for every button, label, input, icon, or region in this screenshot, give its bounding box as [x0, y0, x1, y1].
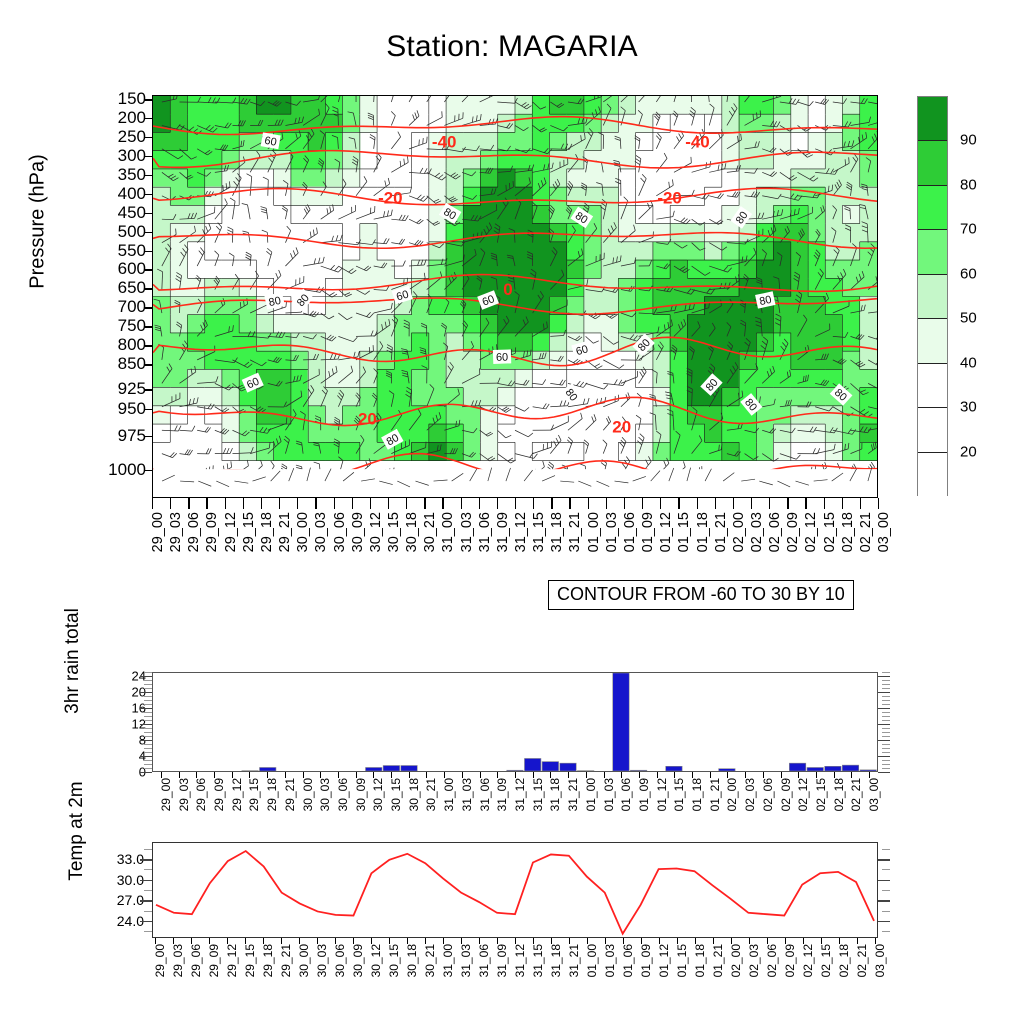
pressure-tick: [145, 194, 152, 196]
rain-y-minor-tick: [144, 728, 152, 729]
time-label: 29_03: [168, 512, 184, 552]
temp-y-tick: [878, 880, 890, 881]
time-label: 29_00: [150, 512, 166, 552]
time-tick: [315, 498, 316, 509]
time-label: 02_06: [767, 512, 783, 552]
temp-x-label: 30_06: [333, 944, 347, 977]
temp-y-tick: [878, 859, 890, 860]
temp-y-minor-tick: [882, 869, 890, 870]
temp-y-minor-tick: [144, 869, 152, 870]
time-label: 02_15: [822, 512, 838, 552]
time-label: 30_00: [295, 512, 311, 552]
rain-y-tick: [878, 708, 890, 709]
temp-panel-title: Temp at 2m: [66, 716, 88, 946]
temp-y-minor-tick: [144, 911, 152, 912]
rain-y-minor-tick: [882, 764, 890, 765]
time-label: 01_00: [586, 512, 602, 552]
rain-x-label: 02_21: [849, 778, 863, 811]
rain-y-minor-tick: [144, 672, 152, 673]
pressure-tick: [145, 389, 152, 391]
pressure-label: 850: [118, 354, 146, 374]
time-tick: [569, 498, 570, 509]
rain-x-label: 31_00: [442, 778, 456, 811]
time-tick: [697, 498, 698, 509]
time-tick: [279, 498, 280, 509]
pressure-label: 650: [118, 278, 146, 298]
colorbar-swatch[interactable]: [918, 275, 947, 319]
rain-x-label: 01_18: [690, 778, 704, 811]
rain-x-label: 03_00: [867, 778, 881, 811]
time-label: 29_18: [259, 512, 275, 552]
time-label: 02_12: [803, 512, 819, 552]
time-label: 02_09: [785, 512, 801, 552]
rain-y-minor-tick: [144, 704, 152, 705]
colorbar-label: 80: [960, 176, 977, 193]
rain-y-tick: [878, 692, 890, 693]
time-tick: [297, 498, 298, 509]
colorbar-label: 40: [960, 354, 977, 371]
time-label: 29_21: [277, 512, 293, 552]
temp-x-label: 01_21: [711, 944, 725, 977]
pressure-label: 200: [118, 108, 146, 128]
rain-y-tick: [140, 772, 152, 773]
rain-x-label: 02_18: [832, 778, 846, 811]
temp-x-label: 31_00: [441, 944, 455, 977]
rain-y-tick: [140, 708, 152, 709]
colorbar-swatch[interactable]: [918, 364, 947, 408]
time-tick: [660, 498, 661, 509]
temp-x-label: 02_12: [801, 944, 815, 977]
time-label: 02_00: [731, 512, 747, 552]
time-tick: [751, 498, 752, 509]
pressure-tick: [145, 326, 152, 328]
pressure-label: 1000: [108, 460, 146, 480]
pressure-label: 500: [118, 222, 146, 242]
rain-y-minor-tick: [882, 768, 890, 769]
rain-y-minor-tick: [144, 688, 152, 689]
temp-x-label: 30_00: [297, 944, 311, 977]
rain-x-label: 02_15: [814, 778, 828, 811]
pressure-label: 400: [118, 184, 146, 204]
rain-y-minor-tick: [882, 744, 890, 745]
temp-y-axis-ticks-right: [878, 842, 891, 938]
rain-y-minor-tick: [144, 768, 152, 769]
rain-y-minor-tick: [144, 720, 152, 721]
pressure-tick: [145, 213, 152, 215]
rain-x-label: 29_09: [212, 778, 226, 811]
temp-y-tick: [878, 921, 890, 922]
temp-x-label: 29_09: [207, 944, 221, 977]
rain-x-label: 29_03: [177, 778, 191, 811]
time-tick: [497, 498, 498, 509]
time-tick: [243, 498, 244, 509]
time-tick: [624, 498, 625, 509]
pressure-label: 800: [118, 335, 146, 355]
pressure-label: 550: [118, 241, 146, 261]
pressure-tick: [145, 470, 152, 472]
rain-y-minor-tick: [144, 752, 152, 753]
rain-y-minor-tick: [144, 716, 152, 717]
rain-y-tick: [140, 692, 152, 693]
time-tick: [642, 498, 643, 509]
svg-text:60: 60: [263, 135, 277, 149]
colorbar-swatch[interactable]: [918, 230, 947, 274]
time-label: 01_09: [640, 512, 656, 552]
rain-x-axis-labels: 29_0029_0329_0629_0929_1229_1529_1829_21…: [152, 778, 878, 834]
rain-y-minor-tick: [882, 704, 890, 705]
temp-x-label: 30_09: [351, 944, 365, 977]
time-tick: [206, 498, 207, 509]
pressure-label: 450: [118, 203, 146, 223]
temp-x-label: 02_06: [765, 944, 779, 977]
temp-y-tick: [140, 921, 152, 922]
pressure-tick: [145, 269, 152, 271]
time-label: 30_12: [368, 512, 384, 552]
rain-y-minor-tick: [882, 720, 890, 721]
pressure-label: 300: [118, 146, 146, 166]
time-label: 30_15: [386, 512, 402, 552]
rain-x-label: 01_21: [708, 778, 722, 811]
temp-y-tick: [140, 880, 152, 881]
rain-y-minor-tick: [882, 672, 890, 673]
cross-section-plot[interactable]: -40-40-20-200202060608080806080806080808…: [152, 95, 878, 498]
pressure-tick: [145, 345, 152, 347]
temp-y-minor-tick: [882, 890, 890, 891]
rain-y-tick: [878, 756, 890, 757]
colorbar-label: 70: [960, 221, 977, 238]
temp-x-label: 31_21: [567, 944, 581, 977]
temp-x-label: 29_06: [189, 944, 203, 977]
temp-y-tick: [878, 900, 890, 901]
rain-y-tick: [878, 740, 890, 741]
rain-x-label: 01_03: [602, 778, 616, 811]
rain-x-label: 29_21: [283, 778, 297, 811]
time-tick: [461, 498, 462, 509]
time-label: 30_03: [313, 512, 329, 552]
temp-x-label: 01_03: [603, 944, 617, 977]
rain-x-label: 02_12: [796, 778, 810, 811]
rain-y-minor-tick: [882, 696, 890, 697]
time-label: 01_12: [658, 512, 674, 552]
rain-y-tick: [878, 772, 890, 773]
rain-y-tick: [140, 740, 152, 741]
temp-x-label: 02_18: [837, 944, 851, 977]
pressure-tick: [145, 288, 152, 290]
rain-total-plot[interactable]: [152, 672, 878, 772]
svg-text:-20: -20: [378, 188, 402, 207]
time-tick: [533, 498, 534, 509]
time-label: 02_18: [840, 512, 856, 552]
rain-y-minor-tick: [882, 748, 890, 749]
main-x-axis-labels: 29_0029_0329_0629_0929_1229_1529_1829_21…: [152, 512, 878, 582]
colorbar-swatch[interactable]: [918, 319, 947, 363]
time-tick: [515, 498, 516, 509]
colorbar-label: 50: [960, 310, 977, 327]
rain-x-label: 29_15: [247, 778, 261, 811]
temp-x-label: 01_12: [657, 944, 671, 977]
svg-text:-40: -40: [432, 133, 456, 152]
rain-x-label: 01_12: [655, 778, 669, 811]
temp-x-label: 31_15: [531, 944, 545, 977]
rain-x-label: 30_06: [336, 778, 350, 811]
svg-text:20: 20: [358, 409, 377, 428]
temp-x-label: 29_03: [171, 944, 185, 977]
time-label: 31_03: [459, 512, 475, 552]
temp-x-label: 29_18: [261, 944, 275, 977]
rain-y-minor-tick: [882, 752, 890, 753]
temp-x-label: 31_09: [495, 944, 509, 977]
rain-y-minor-tick: [144, 712, 152, 713]
rain-y-minor-tick: [882, 732, 890, 733]
pressure-tick: [145, 436, 152, 438]
temperature-plot[interactable]: [152, 842, 878, 938]
temp-x-label: 31_18: [549, 944, 563, 977]
rain-y-tick: [140, 676, 152, 677]
time-tick: [334, 498, 335, 509]
rain-x-label: 31_03: [460, 778, 474, 811]
pressure-tick: [145, 307, 152, 309]
rain-x-label: 31_21: [566, 778, 580, 811]
time-label: 03_00: [876, 512, 892, 552]
svg-text:80: 80: [758, 294, 772, 308]
rain-y-minor-tick: [144, 684, 152, 685]
rain-x-label: 30_21: [424, 778, 438, 811]
time-label: 31_00: [440, 512, 456, 552]
svg-text:80: 80: [268, 295, 282, 309]
pressure-label: 700: [118, 297, 146, 317]
rain-y-minor-tick: [882, 680, 890, 681]
time-label: 02_21: [858, 512, 874, 552]
time-tick: [715, 498, 716, 509]
temp-y-axis-labels: 24.027.030.033.0: [86, 842, 144, 938]
colorbar-label: 90: [960, 132, 977, 149]
temp-x-label: 02_09: [783, 944, 797, 977]
rain-y-minor-tick: [882, 760, 890, 761]
page-title: Station: MAGARIA: [0, 30, 1024, 64]
rain-y-minor-tick: [144, 680, 152, 681]
time-label: 30_06: [332, 512, 348, 552]
time-tick: [442, 498, 443, 509]
rain-x-label: 30_00: [301, 778, 315, 811]
rain-x-label: 30_09: [354, 778, 368, 811]
temp-x-label: 02_15: [819, 944, 833, 977]
pressure-tick: [145, 99, 152, 101]
rain-x-label: 01_06: [619, 778, 633, 811]
colorbar-swatch[interactable]: [918, 186, 947, 230]
rain-x-label: 29_06: [194, 778, 208, 811]
pressure-tick: [145, 137, 152, 139]
rain-y-minor-tick: [882, 736, 890, 737]
svg-text:20: 20: [612, 417, 631, 436]
time-label: 31_18: [549, 512, 565, 552]
rain-y-tick: [140, 724, 152, 725]
colorbar-label: 30: [960, 399, 977, 416]
time-tick: [805, 498, 806, 509]
temp-x-label: 29_12: [225, 944, 239, 977]
temp-y-minor-tick: [882, 931, 890, 932]
time-label: 29_06: [186, 512, 202, 552]
temp-x-label: 01_15: [675, 944, 689, 977]
rain-y-tick: [878, 676, 890, 677]
time-tick: [188, 498, 189, 509]
temp-x-axis-labels: 29_0029_0329_0629_0929_1229_1529_1829_21…: [152, 944, 878, 1000]
time-tick: [261, 498, 262, 509]
time-tick: [479, 498, 480, 509]
main-y-axis-labels: 1502002503003504004505005506006507007508…: [60, 95, 146, 498]
rain-y-minor-tick: [144, 748, 152, 749]
colorbar-swatch[interactable]: [918, 97, 947, 141]
rain-x-label: 29_18: [265, 778, 279, 811]
rain-x-label: 01_15: [672, 778, 686, 811]
temp-x-label: 01_00: [585, 944, 599, 977]
rain-y-minor-tick: [882, 688, 890, 689]
rain-y-minor-tick: [882, 700, 890, 701]
rain-y-minor-tick: [144, 732, 152, 733]
rain-x-label: 31_12: [513, 778, 527, 811]
time-tick: [388, 498, 389, 509]
rain-y-minor-tick: [882, 684, 890, 685]
time-label: 31_09: [495, 512, 511, 552]
time-label: 01_21: [713, 512, 729, 552]
rain-x-label: 02_00: [725, 778, 739, 811]
colorbar-swatch[interactable]: [918, 141, 947, 185]
pressure-label: 600: [118, 259, 146, 279]
rain-y-minor-tick: [144, 736, 152, 737]
rain-x-label: 31_06: [478, 778, 492, 811]
colorbar-label: 20: [960, 443, 977, 460]
svg-text:0: 0: [503, 280, 512, 299]
time-label: 29_09: [204, 512, 220, 552]
temp-x-label: 29_21: [279, 944, 293, 977]
pressure-tick: [145, 409, 152, 411]
temp-x-label: 31_06: [477, 944, 491, 977]
svg-text:60: 60: [496, 351, 509, 363]
time-tick: [551, 498, 552, 509]
time-tick: [424, 498, 425, 509]
time-tick: [225, 498, 226, 509]
rain-x-label: 31_15: [531, 778, 545, 811]
time-label: 02_03: [749, 512, 765, 552]
time-tick: [769, 498, 770, 509]
time-label: 31_06: [477, 512, 493, 552]
temp-y-minor-tick: [882, 911, 890, 912]
time-label: 30_18: [404, 512, 420, 552]
rain-x-label: 30_15: [389, 778, 403, 811]
temp-y-tick: [140, 900, 152, 901]
time-tick: [352, 498, 353, 509]
temp-x-label: 29_15: [243, 944, 257, 977]
rain-x-label: 31_18: [548, 778, 562, 811]
temp-x-label: 03_00: [873, 944, 887, 977]
rain-y-minor-tick: [144, 764, 152, 765]
time-tick: [370, 498, 371, 509]
temp-x-label: 01_06: [621, 944, 635, 977]
time-tick: [787, 498, 788, 509]
time-label: 01_03: [604, 512, 620, 552]
temp-x-label: 31_03: [459, 944, 473, 977]
rain-x-label: 01_00: [584, 778, 598, 811]
temp-x-label: 30_18: [405, 944, 419, 977]
rain-y-axis-labels: 04812162024: [96, 672, 146, 772]
weather-sounding-page: Station: MAGARIA Pressure (hPa) 15020025…: [0, 0, 1024, 1024]
temperature-line-canvas: [153, 843, 877, 937]
time-tick: [842, 498, 843, 509]
time-tick: [878, 498, 879, 509]
pressure-tick: [145, 156, 152, 158]
rain-y-minor-tick: [144, 760, 152, 761]
rain-y-tick: [878, 724, 890, 725]
pressure-tick: [145, 175, 152, 177]
rain-x-label: 30_03: [318, 778, 332, 811]
rain-y-tick: [140, 756, 152, 757]
time-tick: [733, 498, 734, 509]
temp-x-label: 30_15: [387, 944, 401, 977]
pressure-label: 975: [118, 426, 146, 446]
rain-y-minor-tick: [144, 700, 152, 701]
pressure-label: 750: [118, 316, 146, 336]
rain-y-minor-tick: [882, 712, 890, 713]
cross-section-canvas: -40-40-20-200202060608080806080806080808…: [153, 96, 877, 497]
rain-x-label: 02_09: [779, 778, 793, 811]
svg-text:-40: -40: [685, 133, 709, 152]
rain-x-label: 29_00: [159, 778, 173, 811]
time-tick: [170, 498, 171, 509]
time-label: 31_12: [513, 512, 529, 552]
colorbar-swatch[interactable]: [918, 453, 947, 497]
time-label: 29_15: [241, 512, 257, 552]
main-x-axis-ticks: [152, 498, 878, 510]
temp-x-label: 02_00: [729, 944, 743, 977]
temp-y-minor-tick: [144, 849, 152, 850]
time-label: 31_21: [567, 512, 583, 552]
temp-y-minor-tick: [144, 890, 152, 891]
pressure-tick: [145, 251, 152, 253]
rain-x-label: 02_03: [743, 778, 757, 811]
pressure-tick: [145, 364, 152, 366]
rain-y-minor-tick: [882, 716, 890, 717]
time-tick: [824, 498, 825, 509]
rain-x-label: 31_09: [495, 778, 509, 811]
temp-x-label: 02_21: [855, 944, 869, 977]
contour-caption: CONTOUR FROM -60 TO 30 BY 10: [548, 580, 854, 610]
rain-y-minor-tick: [882, 728, 890, 729]
pressure-label: 950: [118, 399, 146, 419]
temp-x-label: 01_18: [693, 944, 707, 977]
rain-x-label: 29_12: [230, 778, 244, 811]
temp-x-label: 29_00: [153, 944, 167, 977]
time-tick: [406, 498, 407, 509]
pressure-label: 925: [118, 379, 146, 399]
time-label: 29_12: [223, 512, 239, 552]
time-label: 01_06: [622, 512, 638, 552]
rain-bars-canvas: [153, 673, 877, 771]
time-tick: [606, 498, 607, 509]
temp-y-minor-tick: [882, 849, 890, 850]
colorbar-swatch[interactable]: [918, 408, 947, 452]
colorbar[interactable]: [917, 96, 948, 496]
rain-x-label: 30_18: [407, 778, 421, 811]
svg-text:-20: -20: [657, 188, 681, 207]
rain-x-label: 02_06: [761, 778, 775, 811]
time-label: 01_15: [676, 512, 692, 552]
pressure-label: 250: [118, 127, 146, 147]
rain-y-minor-tick: [144, 696, 152, 697]
temp-x-label: 01_09: [639, 944, 653, 977]
time-label: 01_18: [695, 512, 711, 552]
temp-x-label: 30_21: [423, 944, 437, 977]
temp-x-label: 30_12: [369, 944, 383, 977]
time-tick: [860, 498, 861, 509]
